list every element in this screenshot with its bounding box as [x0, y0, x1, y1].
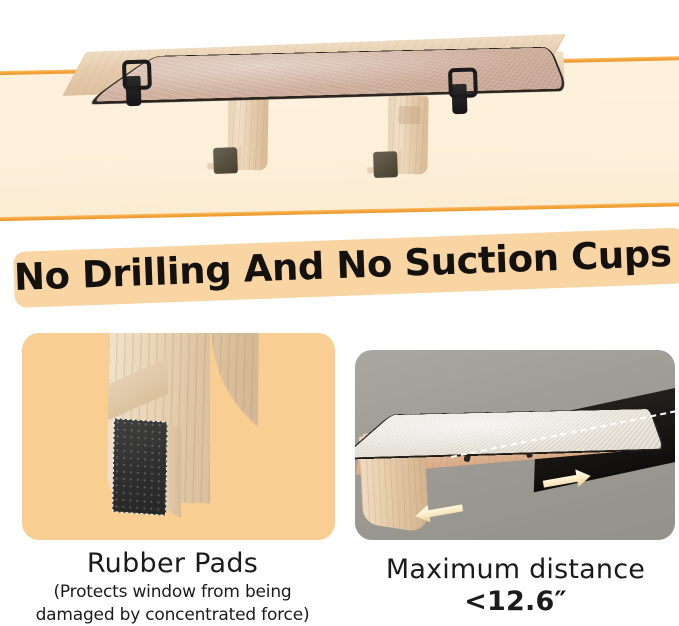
hero-product-photo — [0, 0, 679, 240]
strap-loop-icon — [448, 67, 478, 98]
leg-curve-mask — [210, 333, 335, 505]
sill-bottom-edge — [0, 201, 679, 222]
leg-rubber-foot — [373, 151, 398, 178]
leg-rubber-foot — [213, 147, 238, 174]
panel-rubber-pads — [22, 333, 335, 540]
caption-subtitle-line1: (Protects window from being — [0, 582, 345, 603]
panel-maximum-distance — [355, 350, 675, 540]
caption-value: <12.6″ — [352, 586, 679, 617]
caption-title: Maximum distance — [352, 553, 679, 586]
plush-texture — [355, 409, 663, 458]
perch-leg-right — [387, 96, 428, 175]
caption-rubber-pads: Rubber Pads (Protects window from being … — [0, 548, 345, 626]
product-label-sticker — [398, 106, 420, 124]
perch-leg-left — [227, 92, 268, 171]
strap-clip-left — [125, 76, 141, 107]
caption-maximum-distance: Maximum distance <12.6″ — [352, 553, 679, 617]
rubber-pad-highlight — [112, 418, 168, 516]
strap-clip-right — [451, 84, 467, 115]
caption-subtitle-line2: damaged by concentrated force) — [0, 605, 345, 626]
strap-loop-icon — [122, 59, 152, 90]
caption-title: Rubber Pads — [0, 548, 345, 580]
